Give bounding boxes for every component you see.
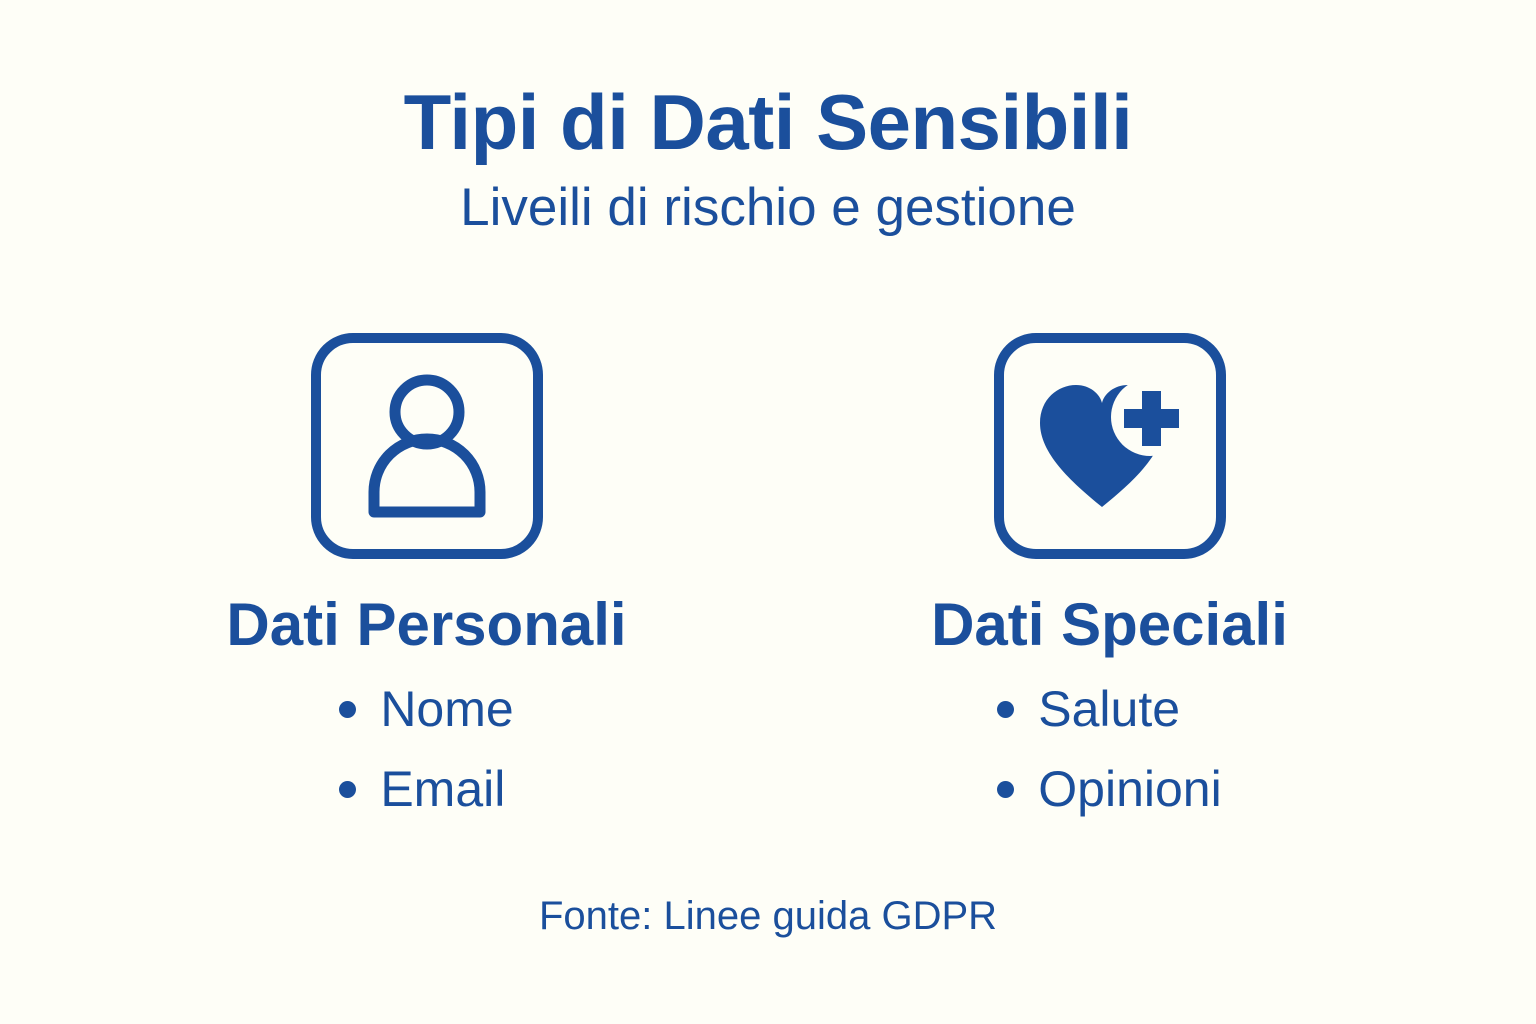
page-subtitle: Liveili di rischio e gestione xyxy=(0,179,1536,237)
list-item-label: Opinioni xyxy=(1038,764,1221,814)
bullet-dot-icon xyxy=(997,781,1014,798)
person-icon-frame xyxy=(311,333,543,559)
list-item-label: Nome xyxy=(380,684,513,734)
bullet-dot-icon xyxy=(339,701,356,718)
list-item: Salute xyxy=(997,684,1221,734)
header: Tipi di Dati Sensibili Liveili di rischi… xyxy=(0,82,1536,237)
bullet-dot-icon xyxy=(339,781,356,798)
bullet-dot-icon xyxy=(997,701,1014,718)
category-column-dati-speciali: Dati Speciali Salute Opinioni xyxy=(768,333,1451,844)
heart-plus-icon xyxy=(1034,373,1186,520)
heart-plus-icon-frame xyxy=(994,333,1226,559)
list-item-label: Email xyxy=(380,764,505,814)
category-title-dati-speciali: Dati Speciali xyxy=(931,592,1288,658)
list-item: Nome xyxy=(339,684,513,734)
person-icon xyxy=(360,370,494,523)
source-note: Fonte: Linee guida GDPR xyxy=(539,894,997,938)
bullet-list-dati-personali: Nome Email xyxy=(339,684,513,844)
list-item-label: Salute xyxy=(1038,684,1180,734)
category-column-dati-personali: Dati Personali Nome Email xyxy=(85,333,768,844)
category-title-dati-personali: Dati Personali xyxy=(226,592,626,658)
category-columns: Dati Personali Nome Email xyxy=(0,333,1536,844)
list-item: Opinioni xyxy=(997,764,1221,814)
infographic-slide: Tipi di Dati Sensibili Liveili di rischi… xyxy=(0,0,1536,1024)
page-title: Tipi di Dati Sensibili xyxy=(0,82,1536,163)
bullet-list-dati-speciali: Salute Opinioni xyxy=(997,684,1221,844)
list-item: Email xyxy=(339,764,513,814)
footer: Fonte: Linee guida GDPR xyxy=(0,894,1536,938)
